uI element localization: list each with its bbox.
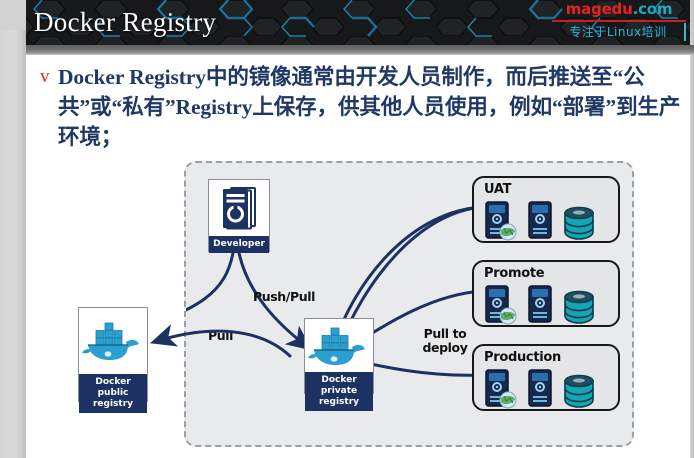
right-edge-strip	[690, 0, 694, 458]
node-developer-label: Developer	[209, 236, 269, 253]
flow-label-push-pull: Push/Pull	[253, 290, 315, 304]
left-gutter	[0, 0, 26, 458]
left-gutter-top	[0, 0, 26, 30]
env-box-production[interactable]: Production	[472, 344, 620, 411]
logo-brand: magedu	[566, 0, 633, 18]
logo-tagline: 专注于Linux培训	[552, 23, 686, 41]
header-shadow-bar	[26, 45, 694, 55]
architecture-diagram: Developer	[184, 161, 634, 447]
slide: Docker Registry magedu.com 专注于Linux培训 v …	[0, 0, 694, 458]
node-public-registry[interactable]: Docker public registry	[78, 307, 148, 402]
database-icon	[562, 372, 596, 415]
flow-label-pull-to-deploy: Pull to deploy	[418, 327, 472, 355]
env-label-production: Production	[484, 350, 561, 365]
database-icon	[562, 204, 596, 247]
logo-domain: magedu.com	[552, 0, 686, 19]
private-registry-label-line1: Docker private	[307, 375, 371, 397]
env-icons-promote	[482, 284, 596, 331]
bullet-paragraph: v Docker Registry中的镜像通常由开发人员制作，而后推送至“公共”…	[40, 62, 688, 152]
arrow-private-to-public	[140, 320, 320, 370]
logo-divider	[552, 20, 686, 22]
magedu-logo: magedu.com 专注于Linux培训	[552, 0, 686, 41]
server-with-globe-icon	[482, 284, 518, 331]
env-box-uat[interactable]: UAT	[472, 176, 620, 243]
server-icon	[527, 368, 553, 415]
node-public-registry-label: Docker public registry	[79, 374, 147, 413]
private-registry-label-line2: registry	[307, 397, 371, 408]
env-box-promote[interactable]: Promote	[472, 260, 620, 327]
public-registry-label-line1: Docker public	[81, 377, 145, 399]
bullet-marker: v	[40, 62, 58, 92]
page-title: Docker Registry	[34, 2, 216, 42]
slide-header: Docker Registry magedu.com 专注于Linux培训	[26, 0, 690, 45]
server-with-globe-icon	[482, 200, 518, 247]
env-label-promote: Promote	[484, 266, 544, 281]
node-private-registry-label: Docker private registry	[305, 372, 373, 411]
env-icons-uat	[482, 200, 596, 247]
env-label-uat: UAT	[484, 182, 511, 197]
node-developer[interactable]: Developer	[208, 179, 270, 252]
documents-stack-icon	[209, 180, 269, 236]
server-with-globe-icon	[482, 368, 518, 415]
docker-whale-icon	[79, 308, 147, 374]
server-icon	[527, 200, 553, 247]
database-icon	[562, 288, 596, 331]
bullet-text: Docker Registry中的镜像通常由开发人员制作，而后推送至“公共”或“…	[58, 62, 688, 152]
server-icon	[527, 284, 553, 331]
logo-tld: .com	[633, 0, 673, 18]
env-icons-production	[482, 368, 596, 415]
public-registry-label-line2: registry	[81, 399, 145, 410]
